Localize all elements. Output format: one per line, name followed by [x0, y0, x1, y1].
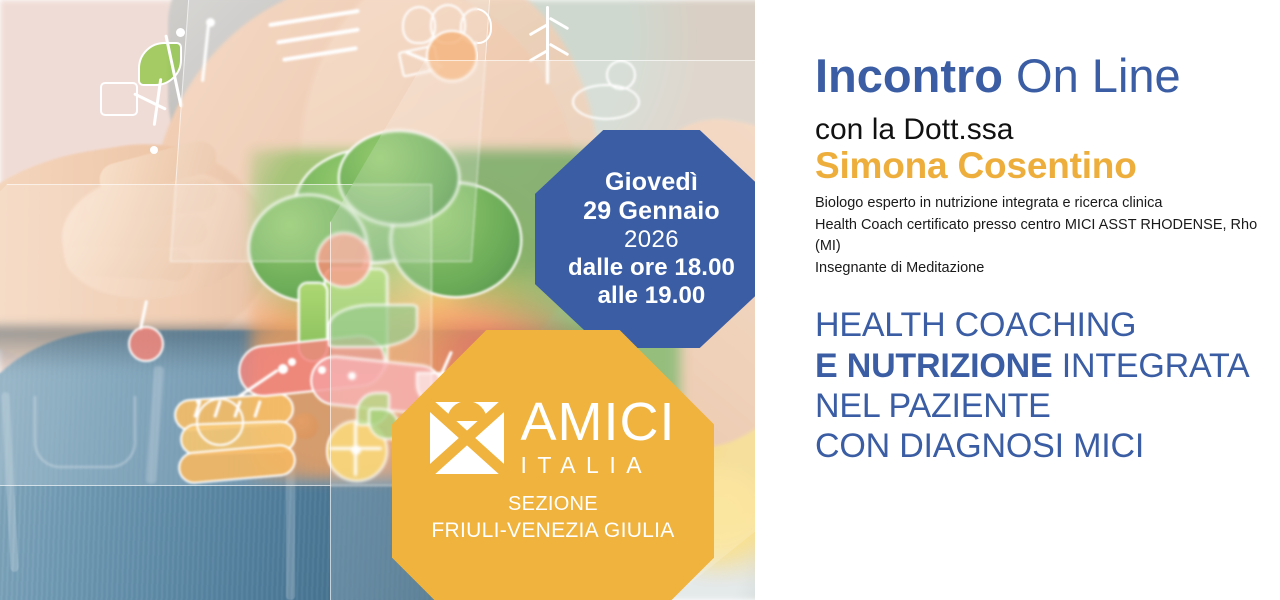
- date-year: 2026: [624, 226, 679, 254]
- event-heading-light: On Line: [1016, 49, 1181, 102]
- event-heading-bold: Incontro: [815, 49, 1003, 102]
- info-panel: Incontro On Line con la Dott.ssa Simona …: [755, 0, 1280, 600]
- talk-title-line-3: NEL PAZIENTE: [815, 386, 1280, 426]
- talk-title-line-1: HEALTH COACHING: [815, 305, 1280, 345]
- amici-butterfly-icon: [430, 402, 504, 474]
- flyer-canvas: Giovedì 29 Gennaio 2026 dalle ore 18.00 …: [0, 0, 1280, 600]
- event-heading: Incontro On Line: [815, 52, 1280, 100]
- talk-title: HEALTH COACHING E NUTRIZIONE INTEGRATA N…: [815, 305, 1280, 467]
- speaker-credentials: Biologo esperto in nutrizione integrata …: [815, 193, 1280, 279]
- logo-lockup: AMICI ITALIA: [430, 397, 675, 479]
- date-day-month: 29 Gennaio: [583, 197, 720, 226]
- logo-brand: AMICI: [520, 397, 675, 449]
- credential-line: Biologo esperto in nutrizione integrata …: [815, 193, 1280, 214]
- node-dot: [176, 28, 185, 37]
- talk-title-line-2: E NUTRIZIONE INTEGRATA: [815, 346, 1280, 386]
- time-to: alle 19.00: [598, 282, 706, 310]
- logo-brand-sub: ITALIA: [520, 452, 675, 480]
- time-from: dalle ore 18.00: [568, 254, 735, 282]
- date-weekday: Giovedì: [605, 168, 698, 197]
- section-label: SEZIONE: [508, 493, 598, 516]
- credential-line: Insegnante di Meditazione: [815, 258, 1280, 279]
- credential-line: Health Coach certificato presso centro M…: [815, 215, 1280, 258]
- square-icon: [100, 82, 138, 116]
- talk-title-line-2-strong: E NUTRIZIONE: [815, 347, 1053, 385]
- section-name: FRIULI-VENEZIA GIULIA: [431, 519, 674, 543]
- date-badge: Giovedì 29 Gennaio 2026 dalle ore 18.00 …: [535, 130, 768, 348]
- node-dot: [150, 146, 158, 154]
- speaker-name: Simona Cosentino: [815, 147, 1280, 186]
- talk-title-line-2-light: INTEGRATA: [1062, 347, 1250, 385]
- talk-title-line-4: CON DIAGNOSI MICI: [815, 426, 1280, 466]
- speaker-prefix: con la Dott.ssa: [815, 114, 1280, 146]
- logo-wordmark: AMICI ITALIA: [520, 397, 675, 479]
